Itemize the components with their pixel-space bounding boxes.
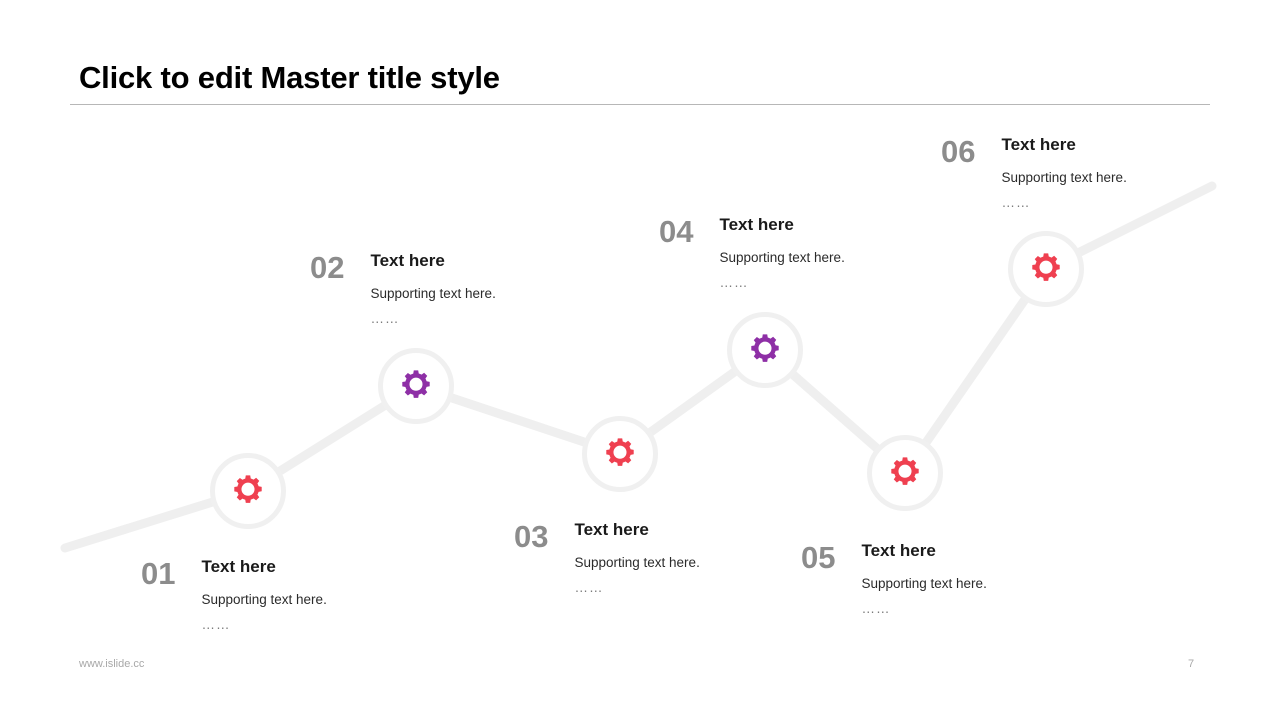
- step-item-03: 03 Text here Supporting text here. ……: [514, 521, 700, 596]
- step-number: 06: [941, 136, 975, 167]
- step-ellipsis: ……: [719, 275, 844, 291]
- footer-page-number: 7: [1188, 658, 1194, 670]
- step-supporting-text: Supporting text here.: [719, 250, 844, 266]
- step-supporting-text: Supporting text here.: [574, 555, 699, 571]
- step-item-05: 05 Text here Supporting text here. ……: [801, 542, 987, 617]
- gear-code-icon: [231, 474, 265, 508]
- step-item-06: 06 Text here Supporting text here. ……: [941, 136, 1127, 211]
- gear-code-icon: [1029, 252, 1063, 286]
- step-number: 04: [659, 216, 693, 247]
- step-heading: Text here: [1001, 136, 1126, 155]
- title-divider: [70, 104, 1210, 105]
- node-circle-01[interactable]: [210, 453, 286, 529]
- step-heading: Text here: [201, 558, 326, 577]
- step-supporting-text: Supporting text here.: [370, 286, 495, 302]
- step-ellipsis: ……: [574, 580, 699, 596]
- step-heading: Text here: [861, 542, 986, 561]
- node-circle-06[interactable]: [1008, 231, 1084, 307]
- gear-code-icon: [748, 333, 782, 367]
- step-ellipsis: ……: [370, 311, 495, 327]
- step-number: 03: [514, 521, 548, 552]
- step-heading: Text here: [719, 216, 844, 235]
- step-ellipsis: ……: [861, 601, 986, 617]
- step-number: 02: [310, 252, 344, 283]
- gear-code-icon: [888, 456, 922, 490]
- step-item-04: 04 Text here Supporting text here. ……: [659, 216, 845, 291]
- step-supporting-text: Supporting text here.: [1001, 170, 1126, 186]
- node-circle-04[interactable]: [727, 312, 803, 388]
- gear-code-icon: [399, 369, 433, 403]
- gear-code-icon: [603, 437, 637, 471]
- node-circle-05[interactable]: [867, 435, 943, 511]
- step-ellipsis: ……: [1001, 195, 1126, 211]
- step-heading: Text here: [574, 521, 699, 540]
- page-title: Click to edit Master title style: [79, 60, 500, 96]
- node-circle-03[interactable]: [582, 416, 658, 492]
- step-number: 05: [801, 542, 835, 573]
- step-supporting-text: Supporting text here.: [201, 592, 326, 608]
- step-number: 01: [141, 558, 175, 589]
- footer-website-link[interactable]: www.islide.cc: [79, 658, 144, 670]
- step-ellipsis: ……: [201, 617, 326, 633]
- step-supporting-text: Supporting text here.: [861, 576, 986, 592]
- step-item-01: 01 Text here Supporting text here. ……: [141, 558, 327, 633]
- step-heading: Text here: [370, 252, 495, 271]
- node-circle-02[interactable]: [378, 348, 454, 424]
- step-item-02: 02 Text here Supporting text here. ……: [310, 252, 496, 327]
